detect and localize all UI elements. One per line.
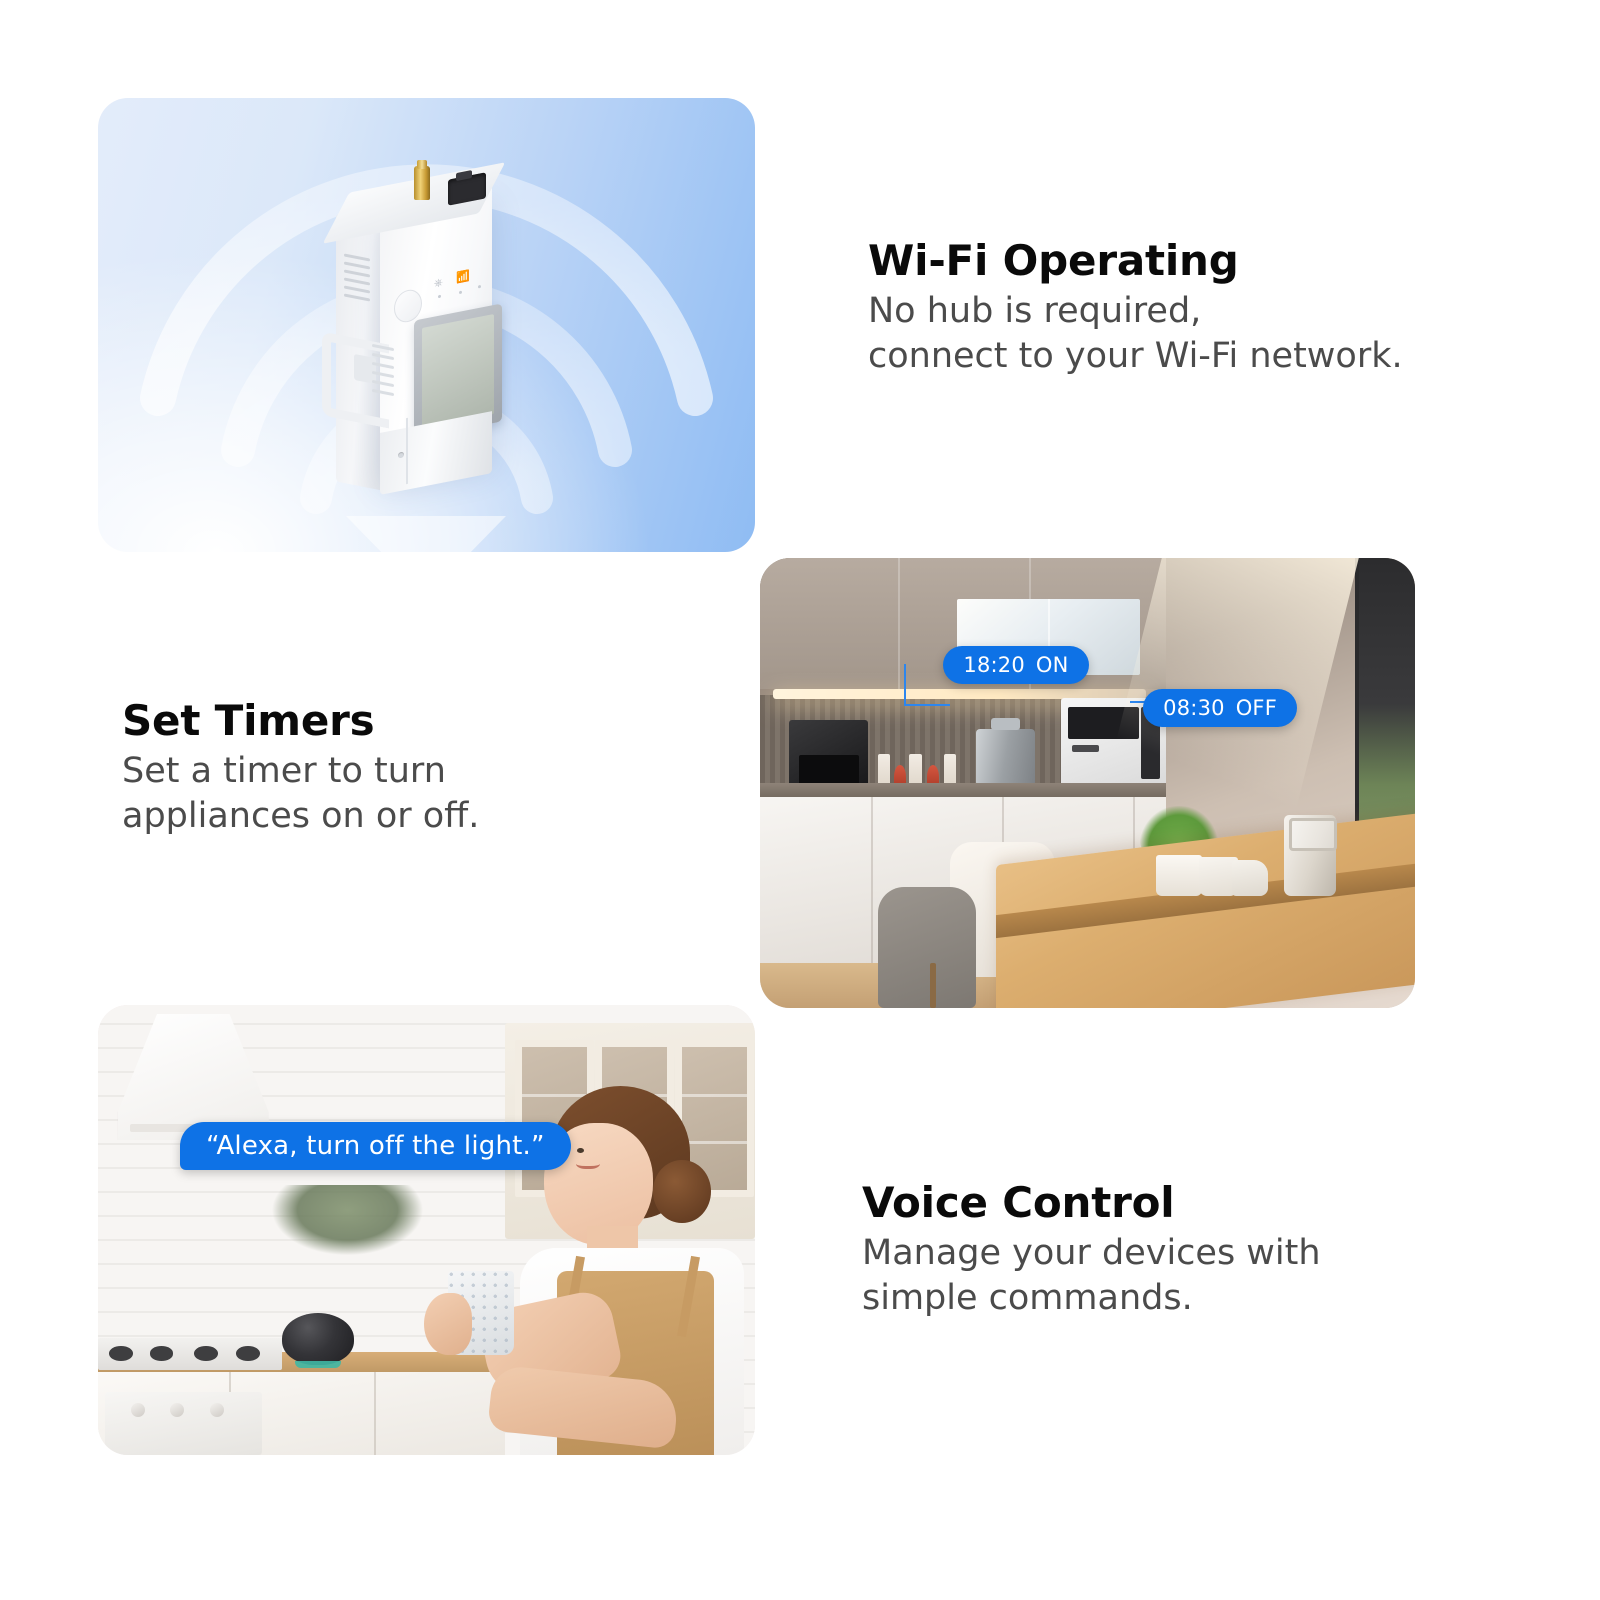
electric-kettle	[976, 729, 1035, 788]
wifi-body-line-2: connect to your Wi-Fi network.	[868, 334, 1568, 379]
status-led-dot	[478, 285, 481, 289]
voice-feature-text: Voice Control Manage your devices with s…	[862, 1180, 1562, 1321]
cabinet-seam	[898, 558, 900, 689]
hand	[424, 1293, 472, 1356]
timers-body-line-2: appliances on or off.	[122, 794, 742, 839]
wifi-body-line-1: No hub is required,	[868, 289, 1568, 334]
device-side-ridges	[372, 344, 394, 406]
timer-on-time: 18:20	[963, 653, 1025, 677]
kitchen-scene: 18:20 ON 08:30 OFF	[760, 558, 1415, 1008]
timer-off-badge: 08:30 OFF	[1143, 689, 1297, 727]
smile	[576, 1156, 600, 1169]
gas-stove	[98, 1338, 282, 1370]
voice-command-bubble: “Alexa, turn off the light.”	[180, 1122, 571, 1170]
voice-kitchen-scene: “Alexa, turn off the light.”	[98, 1005, 755, 1455]
device-seam	[406, 418, 408, 484]
power-icon: ⎈	[434, 276, 443, 289]
timers-feature-text: Set Timers Set a timer to turn appliance…	[122, 698, 742, 839]
voice-body-line-1: Manage your devices with	[862, 1231, 1562, 1276]
timer-off-time: 08:30	[1163, 696, 1225, 720]
smart-speaker	[282, 1313, 354, 1365]
eye	[577, 1148, 584, 1153]
coffee-machine	[789, 720, 868, 788]
smart-switch-device: ⎈ 📶	[310, 160, 550, 510]
antenna-icon	[414, 166, 430, 200]
oven-knob[interactable]	[131, 1403, 145, 1417]
voice-body-line-2: simple commands.	[862, 1276, 1562, 1321]
power-led-dot	[438, 295, 441, 299]
feature-grid: ⎈ 📶 Wi-Fi Operating No hub is required, …	[0, 0, 1600, 1600]
timer-on-badge: 18:20 ON	[943, 646, 1088, 684]
oven-knob[interactable]	[210, 1403, 224, 1417]
ceramic-pitcher	[1232, 860, 1268, 896]
eucalyptus-garland	[269, 1185, 427, 1257]
blender	[1284, 815, 1336, 896]
timer-on-state: ON	[1036, 653, 1069, 677]
plant-pot	[1156, 855, 1202, 896]
wifi-led-dot	[459, 291, 462, 295]
voice-heading: Voice Control	[862, 1180, 1562, 1225]
kitchen-timer-image-card: 18:20 ON 08:30 OFF	[760, 558, 1415, 1008]
cabinet-seam	[374, 1372, 376, 1455]
voice-command-text: “Alexa, turn off the light.”	[206, 1131, 545, 1161]
hair-bun	[653, 1160, 710, 1223]
dining-chair	[878, 887, 976, 1009]
wifi-icon: 📶	[456, 270, 470, 284]
timer-off-state: OFF	[1236, 696, 1277, 720]
oven	[105, 1392, 263, 1455]
lcd-screen-glass	[422, 314, 494, 428]
timers-heading: Set Timers	[122, 698, 742, 743]
vent-slots	[344, 253, 370, 314]
timers-body-line-1: Set a timer to turn	[122, 749, 742, 794]
wifi-product-image-card: ⎈ 📶	[98, 98, 755, 552]
voice-control-image-card: “Alexa, turn off the light.”	[98, 1005, 755, 1455]
wifi-heading: Wi-Fi Operating	[868, 238, 1568, 283]
wifi-feature-text: Wi-Fi Operating No hub is required, conn…	[868, 238, 1568, 379]
